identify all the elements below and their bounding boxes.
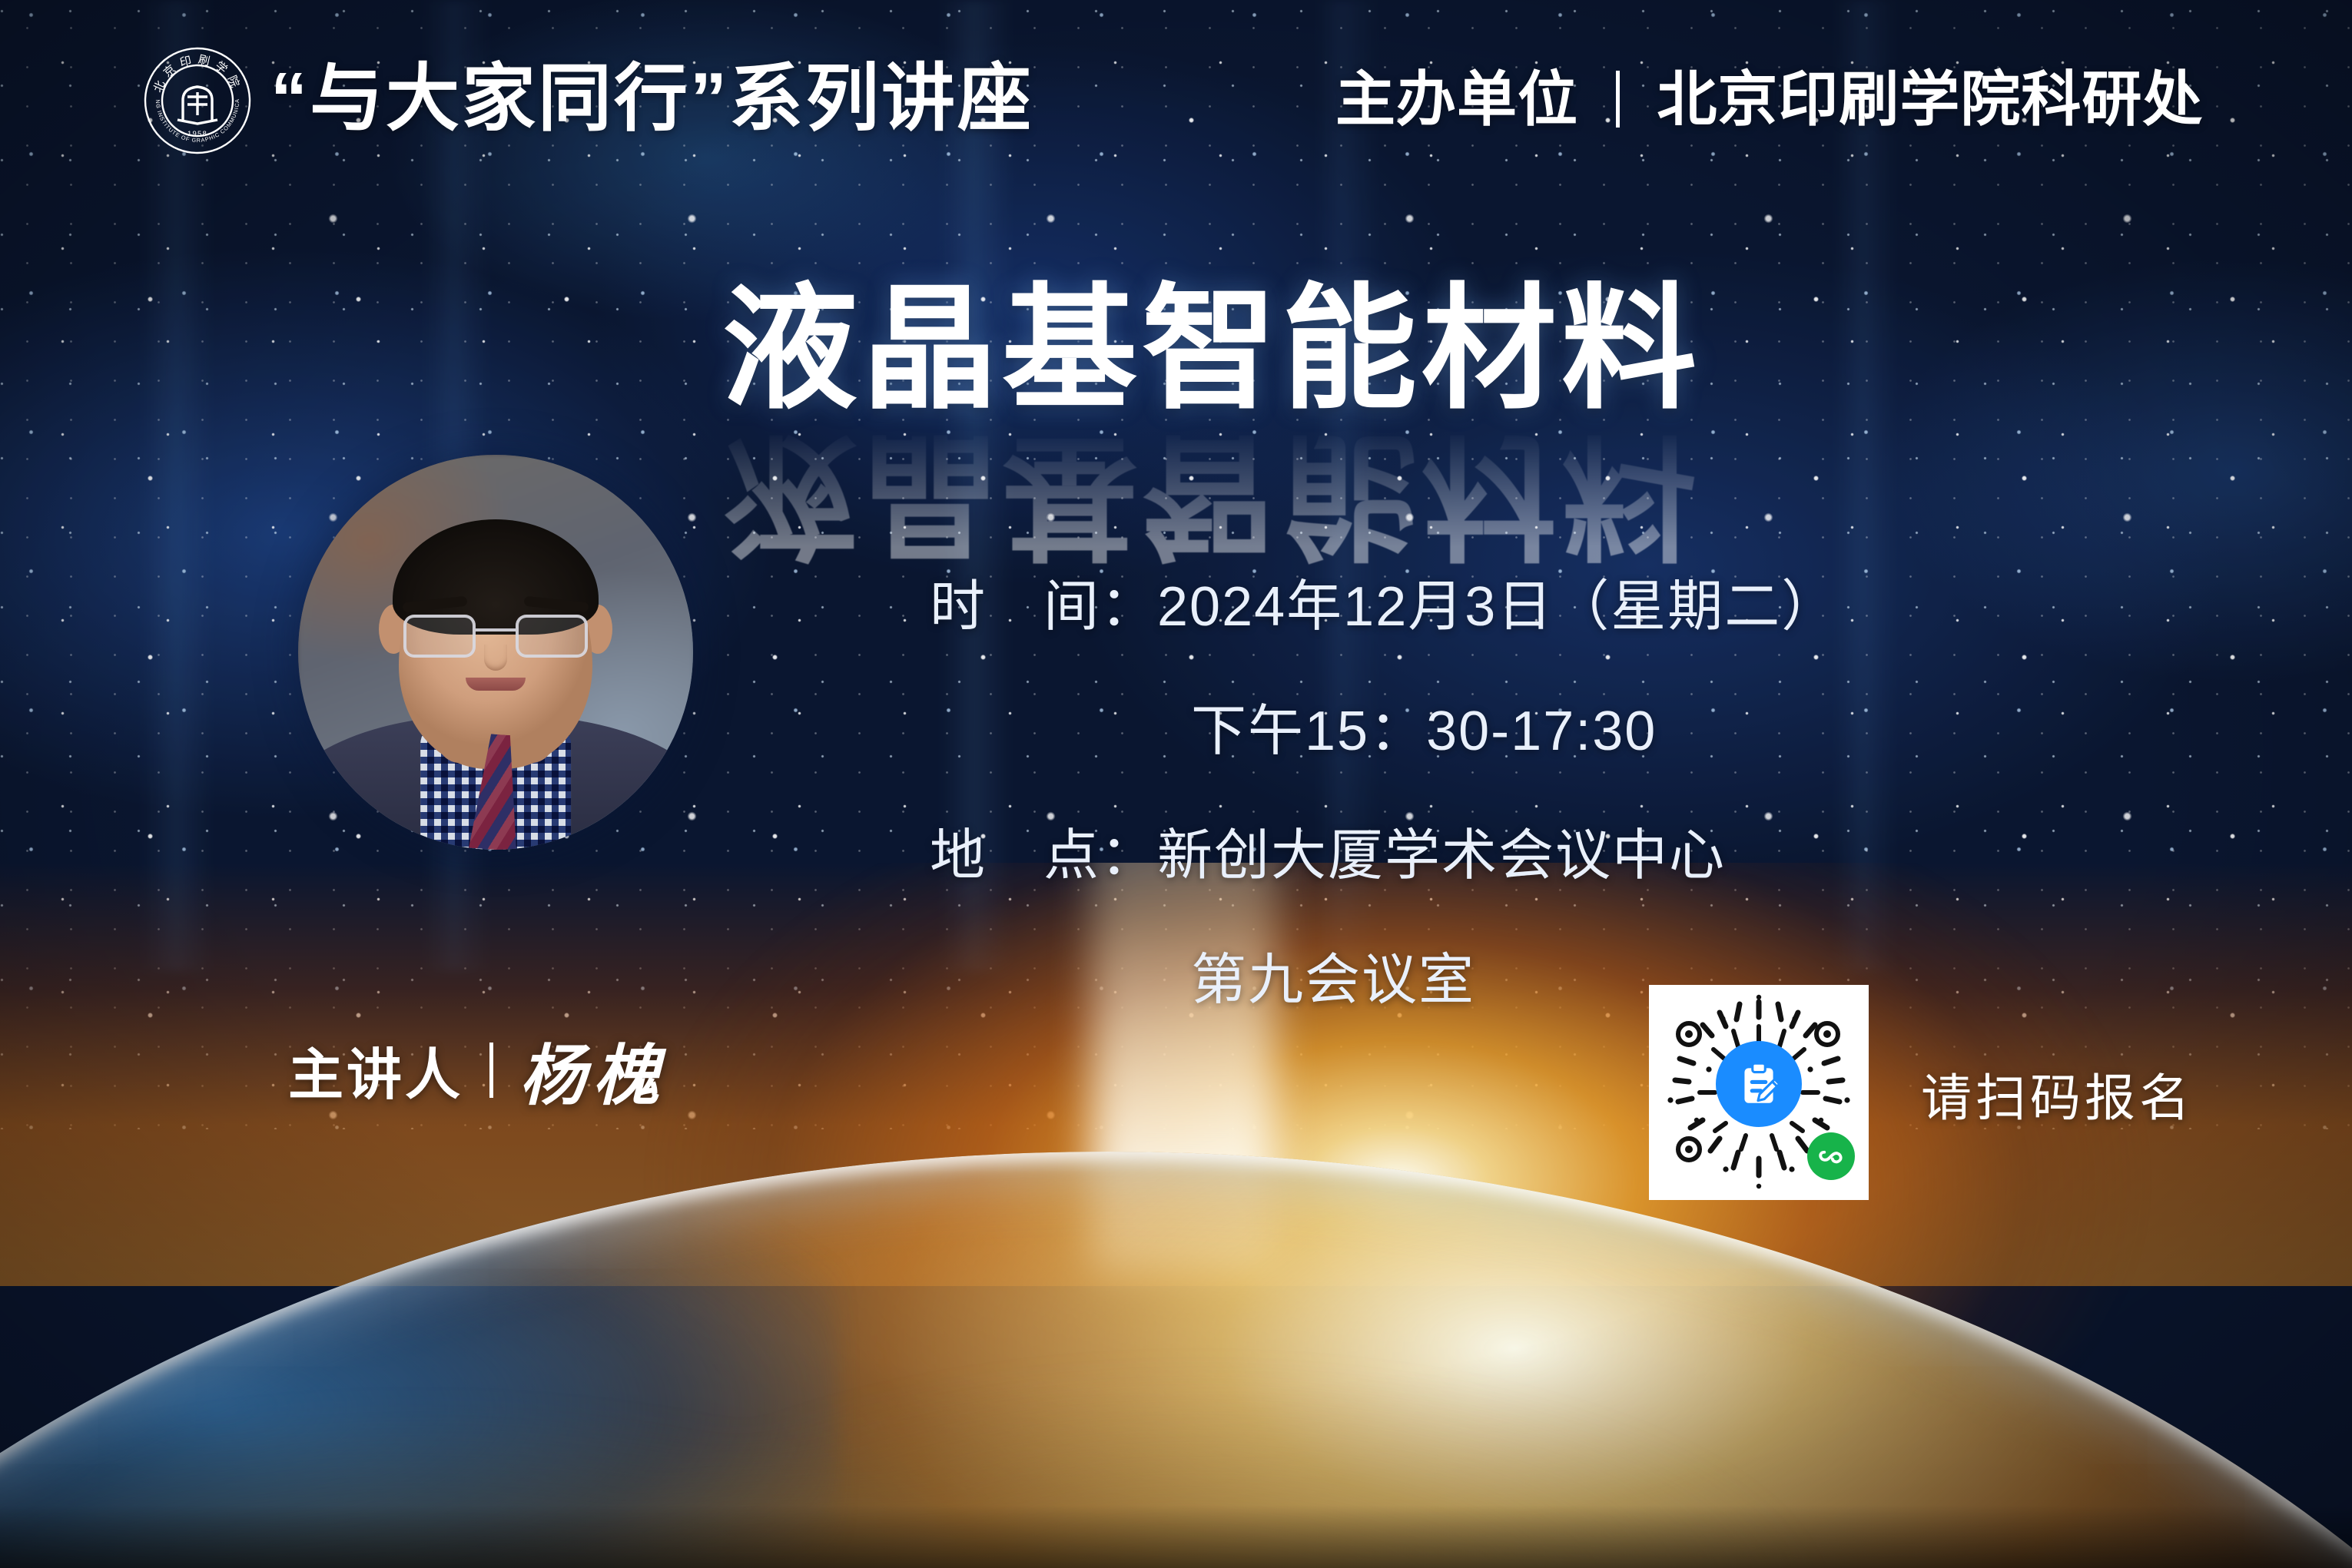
main-title-reflection: 液晶基智能材料 — [722, 421, 1701, 567]
lecture-poster: 北京印刷学院 BEIJING INSTITUTE OF GRAPHIC COMM… — [0, 0, 2352, 1568]
qr-code[interactable] — [1649, 985, 1869, 1200]
info-line-time-detail: 下午15：30-17:30 — [1191, 693, 2082, 770]
organizer-separator — [1616, 71, 1620, 128]
speaker-line: 主讲人 杨槐 — [288, 1022, 667, 1118]
qr-caption: 请扫码报名 — [1921, 1057, 2194, 1131]
portrait-mouth — [466, 678, 526, 691]
portrait-nose — [484, 645, 507, 671]
organizer-line: 主办单位 北京印刷学院科研处 — [1335, 45, 2203, 154]
speaker-label: 主讲人 — [288, 1029, 463, 1110]
organizer-name: 北京印刷学院科研处 — [1657, 65, 2203, 133]
university-logo: 北京印刷学院 BEIJING INSTITUTE OF GRAPHIC COMM… — [143, 46, 252, 155]
organizer-label: 主办单位 — [1335, 65, 1578, 133]
info-line-place-room: 第九会议室 — [1191, 942, 2082, 1019]
speaker-name: 杨槐 — [519, 1022, 667, 1118]
poster-header: 北京印刷学院 BEIJING INSTITUTE OF GRAPHIC COMM… — [0, 0, 2352, 161]
speaker-separator — [489, 1043, 493, 1098]
speaker-portrait — [298, 455, 693, 850]
glasses-bridge — [476, 628, 516, 632]
series-title: “与大家同行”系列讲座 — [270, 45, 1033, 154]
bottom-vignette — [0, 1505, 2352, 1568]
clipboard-pencil-icon — [1716, 1041, 1802, 1127]
main-title: 液晶基智能材料 — [722, 277, 1690, 423]
svg-text:1958: 1958 — [187, 130, 207, 138]
main-title-block: 液晶基智能材料 液晶基智能材料 — [722, 277, 1690, 507]
info-line-place: 地 点：新创大厦学术会议中心 — [930, 817, 2082, 894]
glasses-lens-left — [403, 615, 476, 658]
info-line-time: 时 间：2024年12月3日（星期二） — [930, 569, 2082, 645]
event-info-block: 时 间：2024年12月3日（星期二） 下午15：30-17:30 地 点：新创… — [930, 569, 2082, 1019]
wechat-miniprogram-badge-icon — [1807, 1132, 1855, 1180]
glasses-lens-right — [516, 615, 588, 658]
